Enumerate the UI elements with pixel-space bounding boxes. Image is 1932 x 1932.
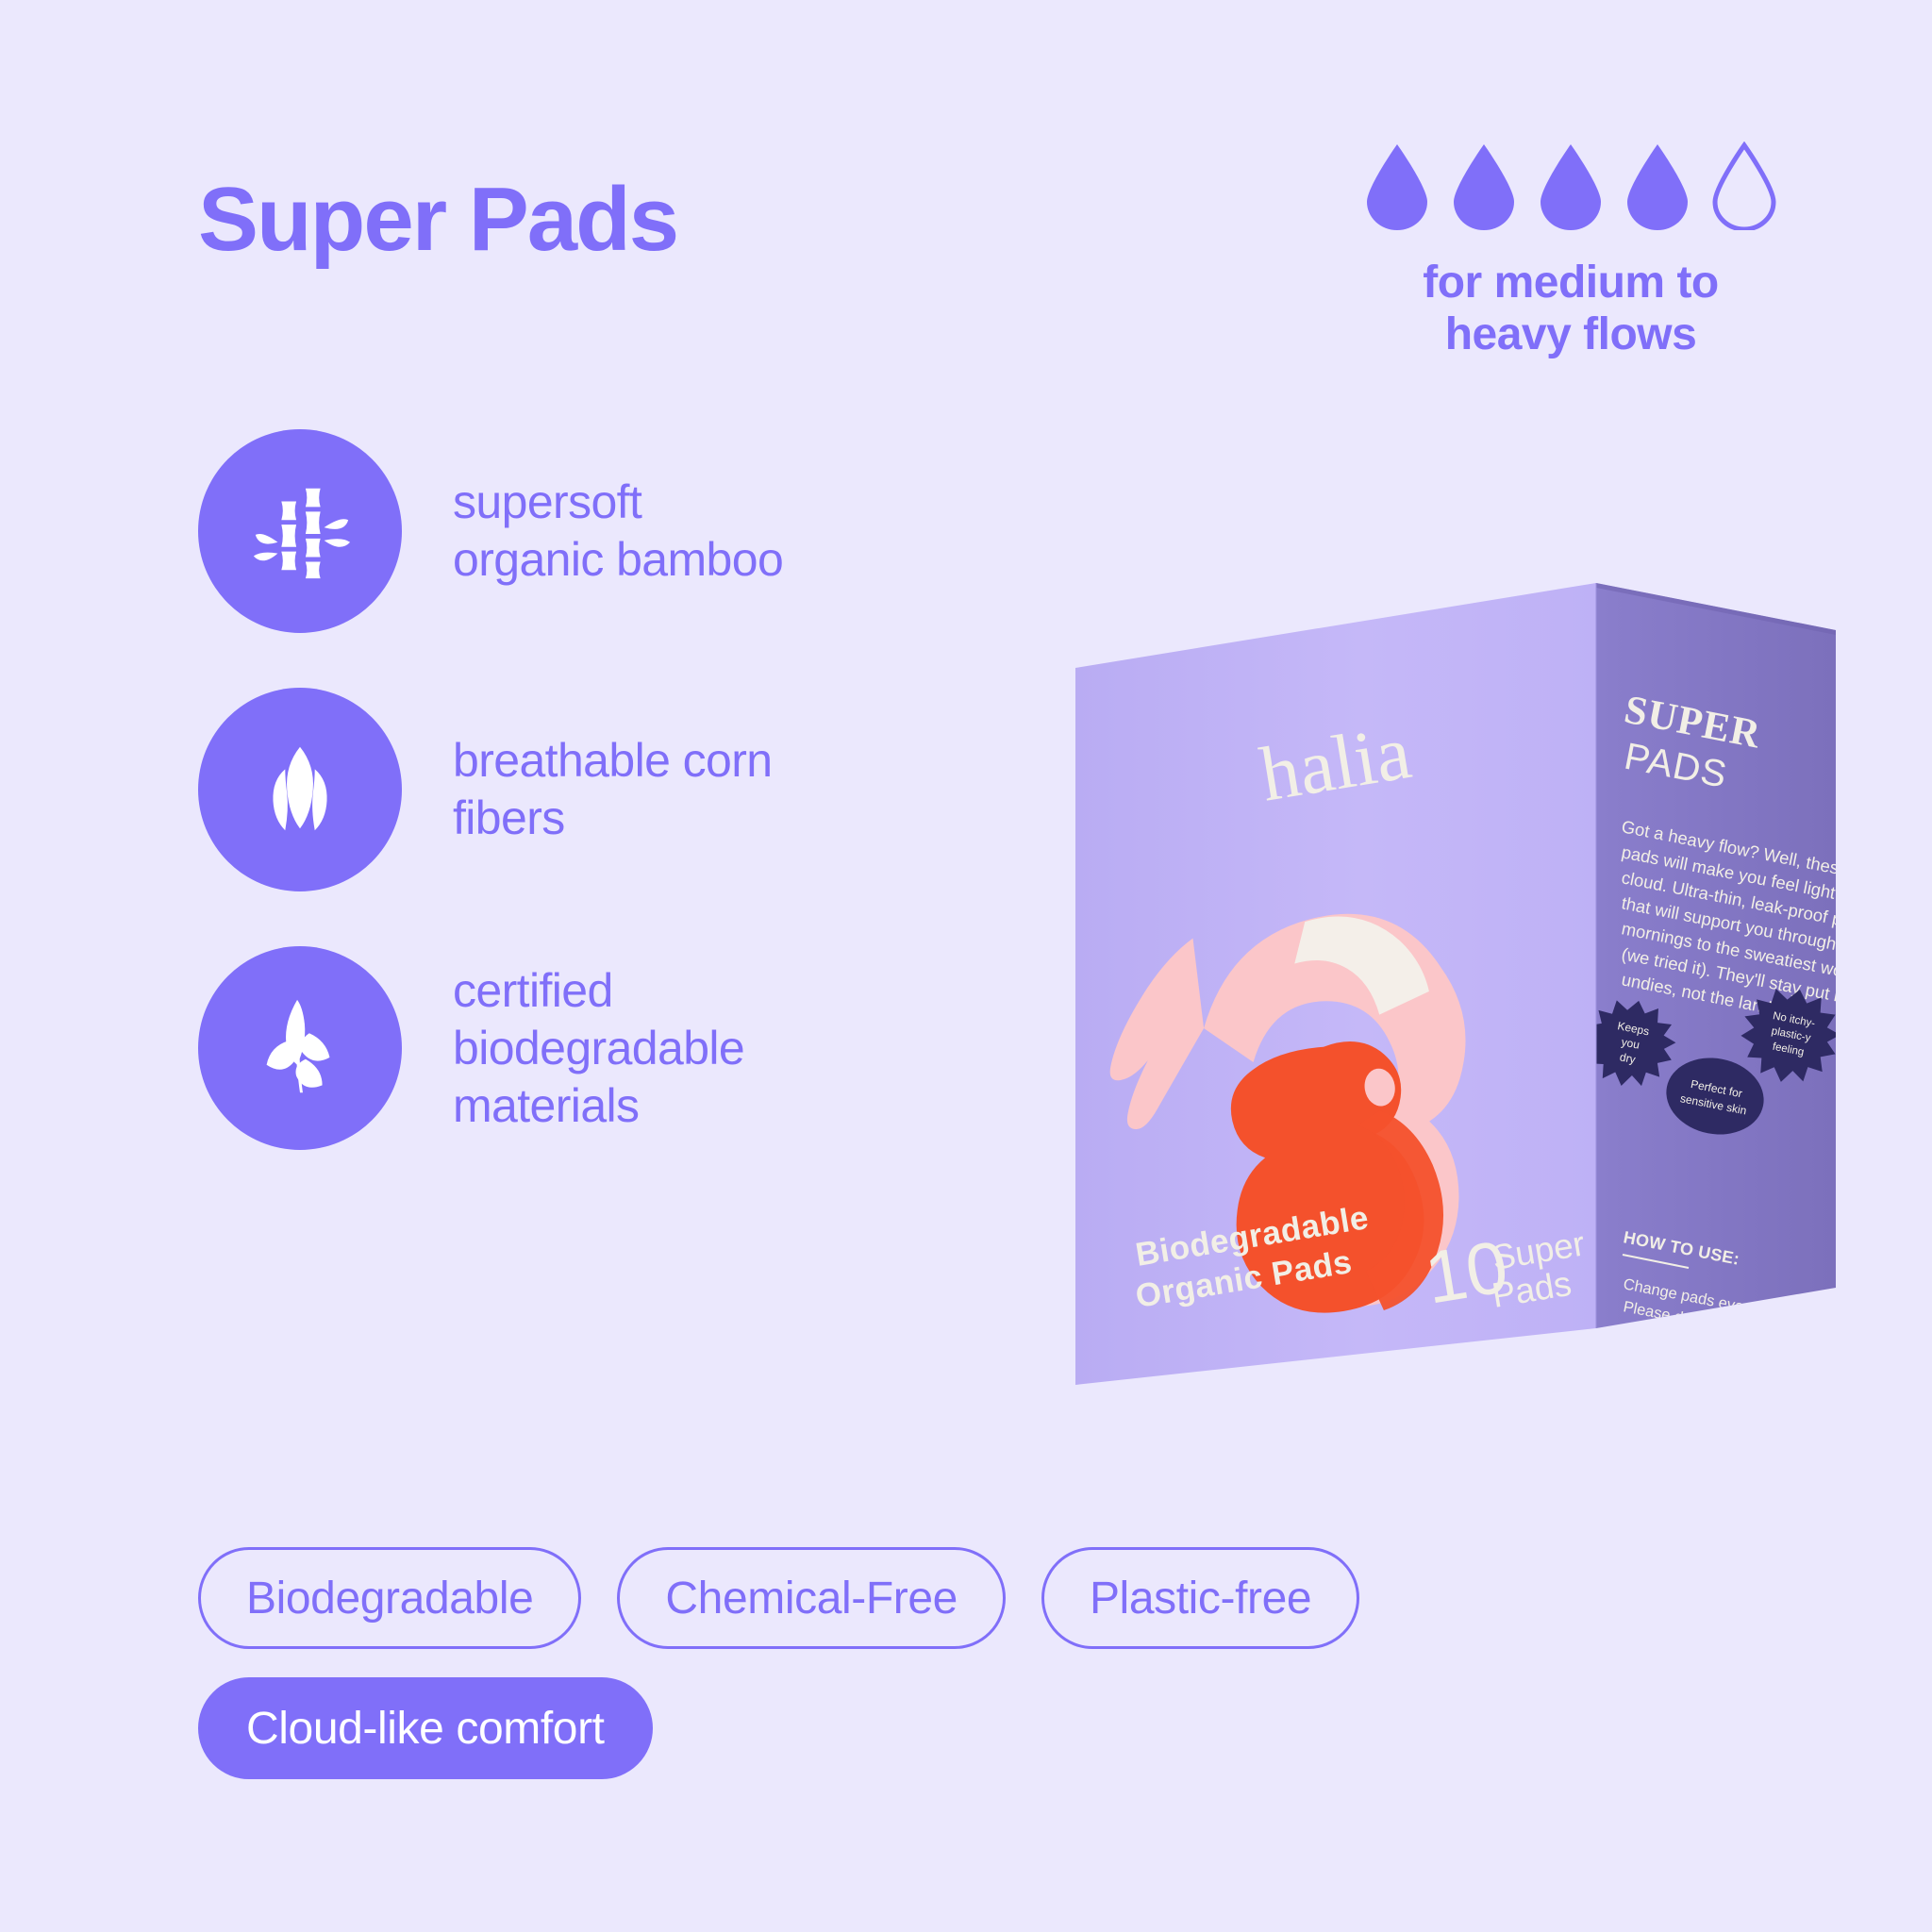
feature-label: certified biodegradable materials bbox=[453, 962, 744, 1135]
feature-label-line3: materials bbox=[453, 1077, 744, 1135]
feature-label: breathable corn fibers bbox=[453, 732, 772, 847]
feature-list: supersoft organic bamboo bbox=[198, 429, 943, 1150]
bamboo-icon bbox=[244, 475, 356, 587]
tag-pill-chemical-free[interactable]: Chemical-Free bbox=[617, 1547, 1006, 1649]
feature-label-line2: biodegradable bbox=[453, 1020, 744, 1077]
droplet-icon bbox=[1537, 142, 1605, 230]
feature-item-corn: breathable corn fibers bbox=[198, 688, 943, 891]
product-box-image: halia Biodegradable bbox=[1075, 528, 1868, 1387]
flow-label-line1: for medium to bbox=[1344, 257, 1797, 308]
droplet-icon-empty bbox=[1710, 142, 1778, 230]
feature-icon-badge bbox=[198, 946, 402, 1150]
droplet-icon bbox=[1450, 142, 1518, 230]
droplet-row bbox=[1344, 142, 1797, 230]
feature-icon-badge bbox=[198, 688, 402, 891]
tag-pill-cloud-like-comfort[interactable]: Cloud-like comfort bbox=[198, 1677, 653, 1779]
tag-row-outlined: Biodegradable Chemical-Free Plastic-free bbox=[198, 1547, 1538, 1649]
droplet-icon bbox=[1363, 142, 1431, 230]
feature-label-line2: fibers bbox=[453, 790, 772, 847]
tag-pill-plastic-free[interactable]: Plastic-free bbox=[1041, 1547, 1359, 1649]
flow-label: for medium to heavy flows bbox=[1344, 257, 1797, 360]
feature-label-line1: breathable corn bbox=[453, 732, 772, 790]
feature-icon-badge bbox=[198, 429, 402, 633]
corn-icon bbox=[244, 734, 356, 845]
flow-indicator: for medium to heavy flows bbox=[1344, 142, 1797, 360]
tag-area: Biodegradable Chemical-Free Plastic-free… bbox=[198, 1547, 1538, 1779]
tag-row-filled: Cloud-like comfort bbox=[198, 1677, 1538, 1779]
product-marketing-page: Super Pads for medium to heavy flows bbox=[0, 0, 1932, 1932]
feature-item-leaf: certified biodegradable materials bbox=[198, 946, 943, 1150]
flow-label-line2: heavy flows bbox=[1344, 308, 1797, 360]
tag-pill-biodegradable[interactable]: Biodegradable bbox=[198, 1547, 581, 1649]
feature-label-line1: certified bbox=[453, 962, 744, 1020]
page-title: Super Pads bbox=[198, 175, 677, 265]
feature-label-line1: supersoft bbox=[453, 474, 783, 531]
leaf-icon bbox=[244, 992, 356, 1104]
droplet-icon bbox=[1624, 142, 1691, 230]
feature-item-bamboo: supersoft organic bamboo bbox=[198, 429, 943, 633]
feature-label-line2: organic bamboo bbox=[453, 531, 783, 589]
product-box-3d: halia Biodegradable bbox=[1075, 528, 1868, 1387]
feature-label: supersoft organic bamboo bbox=[453, 474, 783, 589]
